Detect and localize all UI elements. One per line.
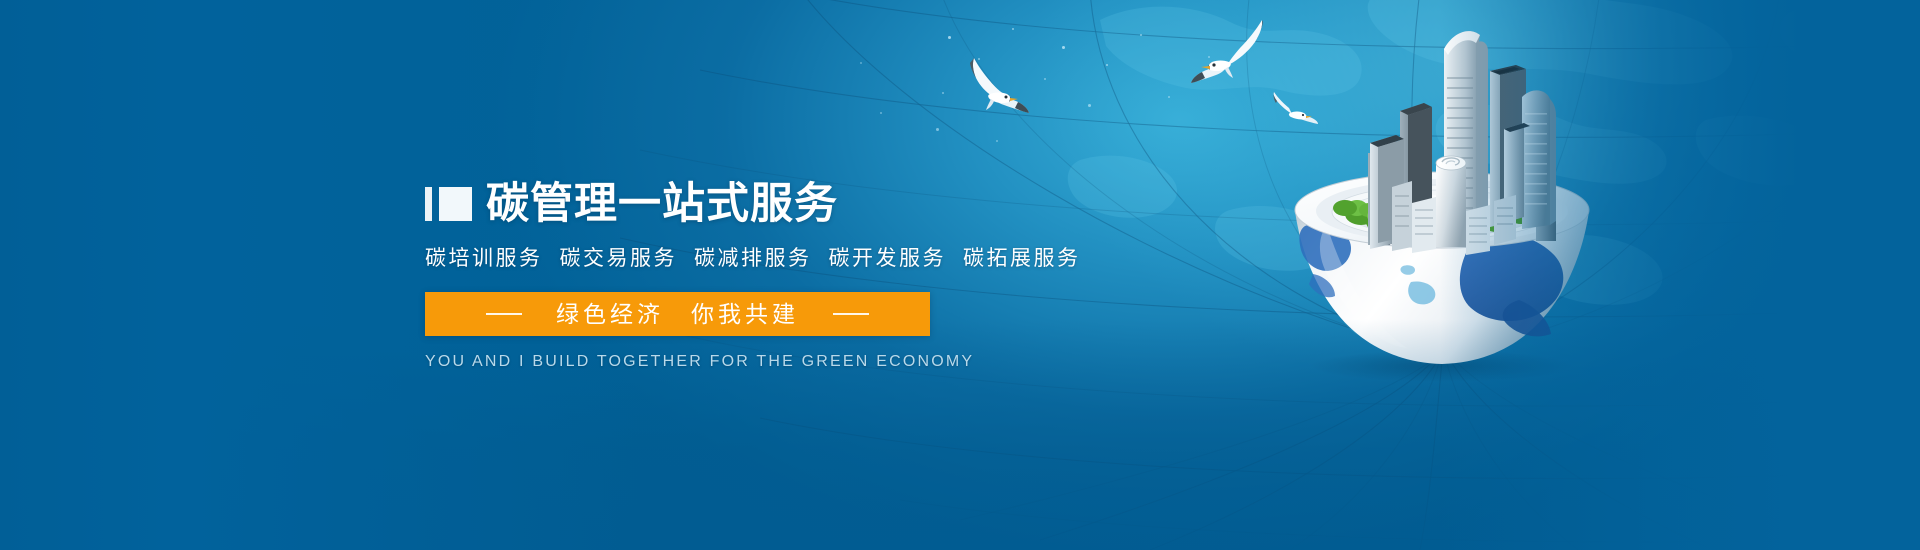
slogan-dash-left [486,313,522,315]
slogan-dash-right [833,313,869,315]
service-item-0[interactable]: 碳培训服务 [425,242,543,272]
mark-thin-bar [425,187,432,221]
slogan-banner: 绿色经济 你我共建 [425,292,930,336]
service-list: 碳培训服务 碳交易服务 碳减排服务 碳开发服务 碳拓展服务 [425,242,1125,272]
mark-square-block [439,187,472,221]
english-tagline: YOU AND I BUILD TOGETHER FOR THE GREEN E… [425,353,1125,371]
slogan-text: 绿色经济 你我共建 [556,303,799,326]
service-item-2[interactable]: 碳减排服务 [694,242,812,272]
service-item-3[interactable]: 碳开发服务 [829,242,947,272]
headline-row: 碳管理一站式服务 [425,180,1125,228]
carbon-management-banner: 碳管理一站式服务 碳培训服务 碳交易服务 碳减排服务 碳开发服务 碳拓展服务 绿… [0,0,1920,550]
service-item-1[interactable]: 碳交易服务 [560,242,678,272]
service-item-4[interactable]: 碳拓展服务 [963,242,1081,272]
banner-content: 碳管理一站式服务 碳培训服务 碳交易服务 碳减排服务 碳开发服务 碳拓展服务 绿… [425,180,1125,371]
two-bar-square-mark-icon [425,187,472,221]
page-title: 碳管理一站式服务 [486,183,838,226]
